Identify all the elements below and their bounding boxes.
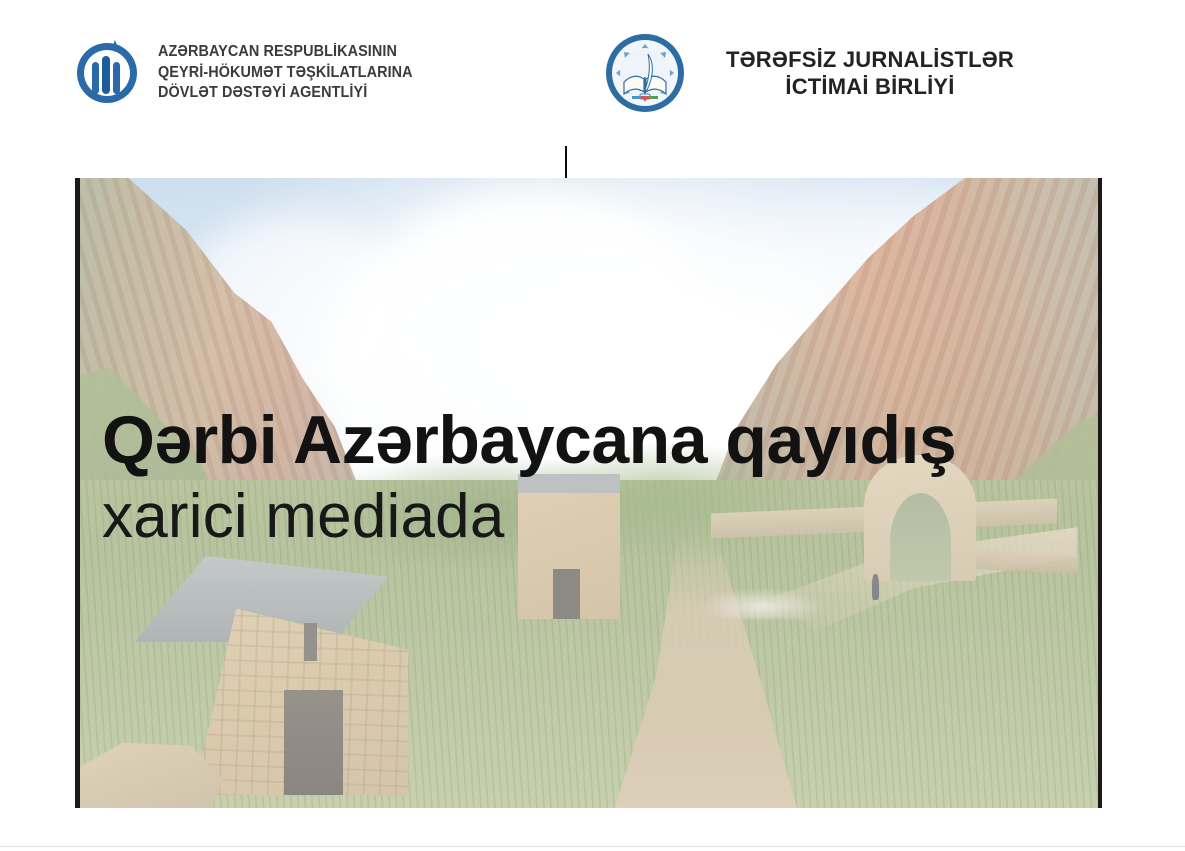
hero-title-line-1: Qərbi Azərbaycana qayıdış bbox=[102, 406, 956, 475]
ngo-name-line-1: TƏRƏFSİZ JURNALİSTLƏR bbox=[726, 46, 1014, 74]
ngo-name-line-2: İCTİMAİ BİRLİYİ bbox=[726, 73, 1014, 101]
agency-branding: AZƏRBAYCAN RESPUBLİKASININ QEYRİ-HÖKUMƏT… bbox=[70, 36, 432, 110]
stone-house-window bbox=[304, 623, 317, 661]
agency-name-line-1: AZƏRBAYCAN RESPUBLİKASININ bbox=[158, 42, 413, 62]
agency-name-line-2: QEYRİ-HÖKUMƏT TƏŞKİLATLARINA bbox=[158, 63, 413, 83]
document-page: AZƏRBAYCAN RESPUBLİKASININ QEYRİ-HÖKUMƏT… bbox=[0, 0, 1185, 851]
stone-rubble bbox=[701, 588, 823, 620]
journalists-union-seal-icon bbox=[604, 32, 686, 114]
stone-house-door bbox=[284, 690, 343, 795]
document-header: AZƏRBAYCAN RESPUBLİKASININ QEYRİ-HÖKUMƏT… bbox=[0, 0, 1185, 140]
hero-title-line-2: xarici mediada bbox=[102, 481, 956, 552]
person-figure bbox=[872, 574, 879, 600]
hero-title-block: Qərbi Azərbaycana qayıdış xarici mediada bbox=[102, 406, 956, 553]
ngo-branding: TƏRƏFSİZ JURNALİSTLƏR İCTİMAİ BİRLİYİ bbox=[604, 32, 1014, 114]
second-building-door bbox=[553, 569, 579, 619]
agency-circular-emblem-icon bbox=[70, 36, 144, 110]
agency-name: AZƏRBAYCAN RESPUBLİKASININ QEYRİ-HÖKUMƏT… bbox=[158, 42, 413, 103]
ngo-name: TƏRƏFSİZ JURNALİSTLƏR İCTİMAİ BİRLİYİ bbox=[726, 46, 1014, 101]
hero-banner: Qərbi Azərbaycana qayıdış xarici mediada bbox=[75, 178, 1102, 808]
page-bottom-separator bbox=[0, 846, 1185, 847]
agency-name-line-3: DÖVLƏT DƏSTƏYİ AGENTLİYİ bbox=[158, 83, 413, 103]
